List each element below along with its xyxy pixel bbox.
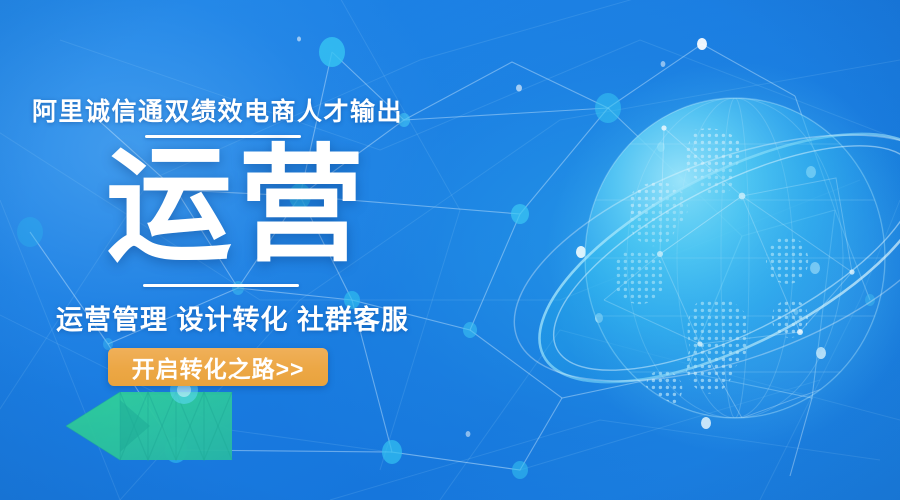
banner-subtitle: 运营管理 设计转化 社群客服 <box>56 298 409 337</box>
start-conversion-button[interactable]: 开启转化之路>> <box>108 348 328 386</box>
banner-main-title: 运营 <box>106 143 370 269</box>
banner-headline: 阿里诚信通双绩效电商人才输出 <box>32 92 403 128</box>
banner-text-block: 阿里诚信通双绩效电商人才输出 运营 运营管理 设计转化 社群客服 开启转化之路>… <box>0 0 470 500</box>
promo-banner: 阿里诚信通双绩效电商人才输出 运营 运营管理 设计转化 社群客服 开启转化之路>… <box>0 0 900 500</box>
divider-middle <box>143 284 299 287</box>
